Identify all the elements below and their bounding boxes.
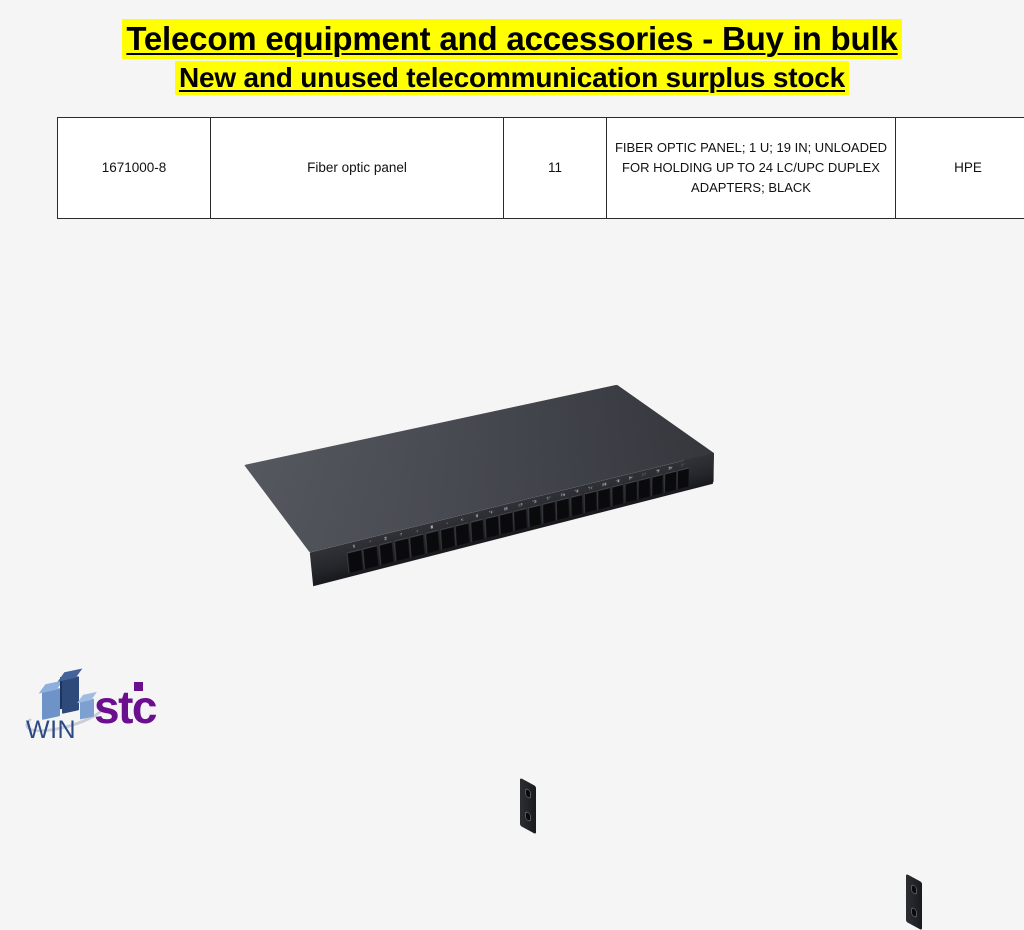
adapter-slot-number: 12 [518, 503, 523, 508]
slide-title-block: Telecom equipment and accessories - Buy … [0, 22, 1024, 92]
adapter-slot: 7 [440, 526, 455, 550]
adapter-slot-number: 21 [642, 473, 646, 478]
adapter-slot: 3 [378, 541, 393, 565]
adapter-slot-number: 23 [669, 466, 673, 471]
stc-logo-text: stc [94, 684, 156, 730]
cell-part-number: 1671000-8 [58, 118, 211, 219]
table-body: 1671000-8 Fiber optic panel 11 FIBER OPT… [58, 118, 1024, 219]
rack-ear-hole [911, 906, 917, 918]
adapter-slot-number: 13 [532, 500, 536, 505]
adapter-slot-number: 18 [602, 482, 606, 487]
adapter-slot: 6 [425, 530, 440, 554]
adapter-slot: 15 [556, 497, 569, 520]
adapter-slot-number: 3 [384, 537, 387, 542]
adapter-slot-number: 15 [561, 493, 565, 498]
adapter-slot-number: 4 [400, 533, 403, 538]
rack-ear-hole [911, 883, 917, 895]
rack-ear-right [906, 874, 922, 930]
adapter-slot: 12 [514, 508, 527, 531]
adapter-slot-number: 6 [430, 525, 433, 530]
adapter-slot-number: 14 [547, 496, 551, 501]
adapter-slot-number: 1 [353, 544, 356, 549]
adapter-slot-number: 2 [368, 541, 371, 546]
panel-stage: 123456789101112131415161718192021222324 [258, 358, 758, 608]
table-row: 1671000-8 Fiber optic panel 11 FIBER OPT… [58, 118, 1024, 219]
adapter-slot: 22 [651, 474, 663, 496]
adapter-slot-number: 10 [489, 510, 494, 515]
adapter-slot: 14 [542, 501, 555, 524]
cell-product-name: Fiber optic panel [211, 118, 504, 219]
slide-title-main-text: Telecom equipment and accessories - Buy … [122, 19, 901, 59]
product-spec-table: 1671000-8 Fiber optic panel 11 FIBER OPT… [57, 117, 1024, 219]
slide-title-sub: New and unused telecommunication surplus… [0, 64, 1024, 92]
rack-ear-hole [525, 810, 531, 822]
panel-body: 123456789101112131415161718192021222324 [244, 385, 714, 553]
logo-row: WIN stc [22, 672, 252, 742]
win-logo: WIN [22, 672, 104, 740]
adapter-slot-number: 20 [629, 476, 633, 481]
slide-title-sub-text: New and unused telecommunication surplus… [175, 61, 849, 95]
adapter-slot: 13 [528, 504, 541, 527]
stc-logo-dot-icon [134, 682, 143, 691]
adapter-slot-number: 19 [616, 479, 620, 484]
adapter-slot: 23 [664, 471, 676, 493]
stc-logo: stc [94, 684, 204, 738]
adapter-slot-number: 9 [475, 514, 477, 519]
win-logo-text: WIN [26, 716, 76, 745]
adapter-slot: 2 [363, 545, 379, 569]
adapter-slot: 18 [598, 487, 610, 510]
rack-ear-left [520, 778, 536, 835]
adapter-slot: 19 [611, 484, 623, 506]
win-block-small-icon [80, 699, 94, 720]
adapter-slot-number: 11 [504, 507, 508, 512]
slide-page: { "page": { "background_color": "#f5f5f5… [0, 0, 1024, 768]
adapter-slot: 5 [409, 534, 424, 558]
adapter-slot-number: 17 [588, 486, 592, 491]
adapter-slot: 10 [484, 515, 498, 538]
adapter-slot-number: 7 [446, 522, 449, 527]
adapter-slot: 24 [677, 468, 689, 490]
adapter-slot-number: 5 [415, 529, 418, 534]
adapter-slot-number: 22 [655, 469, 659, 474]
adapter-slot-number: 8 [461, 518, 463, 523]
rack-ear-hole [525, 787, 531, 799]
adapter-slot: 8 [455, 522, 469, 545]
adapter-slot: 1 [347, 549, 363, 573]
adapter-slot: 16 [570, 494, 583, 517]
adapter-slot-number: 24 [682, 463, 686, 468]
adapter-slot: 4 [394, 537, 409, 561]
adapter-slot: 11 [499, 512, 513, 535]
slide-title-main: Telecom equipment and accessories - Buy … [0, 22, 1024, 55]
cell-description: FIBER OPTIC PANEL; 1 U; 19 IN; UNLOADED … [607, 118, 896, 219]
adapter-slot-number: 16 [575, 489, 579, 494]
cell-brand: HPE [896, 118, 1024, 219]
product-image-fiber-optic-panel: 123456789101112131415161718192021222324 [258, 358, 758, 608]
adapter-slot: 17 [584, 491, 596, 514]
cell-quantity: 11 [504, 118, 607, 219]
adapter-slot: 21 [638, 477, 650, 499]
adapter-slot: 9 [470, 519, 484, 542]
adapter-slot: 20 [625, 481, 637, 503]
win-block-tall-icon [62, 676, 79, 714]
